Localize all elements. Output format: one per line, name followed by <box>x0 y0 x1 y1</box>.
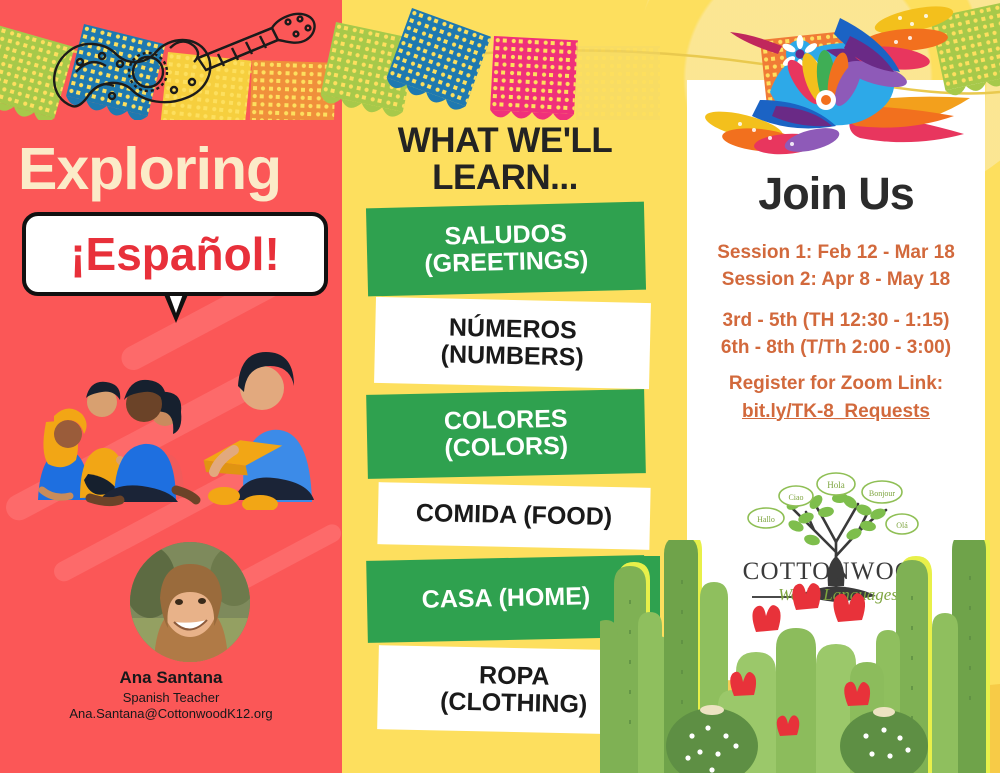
session-2: Session 2: Apr 8 - May 18 <box>687 267 985 294</box>
what-well-learn-heading: WHAT WE'LL LEARN... <box>360 122 650 196</box>
teacher-email: Ana.Santana@CottonwoodK12.org <box>0 706 342 721</box>
logo-bubble-text: Bonjour <box>869 489 896 498</box>
heading-line-2: LEARN... <box>360 159 650 196</box>
join-us-title: Join Us <box>687 168 985 220</box>
session-1: Session 1: Feb 12 - Mar 18 <box>687 240 985 267</box>
topic-line-2: (GREETINGS) <box>424 247 589 278</box>
heading-line-1: WHAT WE'LL <box>360 122 650 159</box>
topic-banner-numeros: NÚMEROS (NUMBERS) <box>374 297 651 389</box>
alebrije-hummingbird-icon <box>700 0 990 156</box>
register-block: Register for Zoom Link: bit.ly/TK-8_Requ… <box>687 370 985 425</box>
topic-line-1: COMIDA (FOOD) <box>416 500 613 532</box>
avatar <box>130 542 250 662</box>
cactus-illustration <box>600 540 1000 773</box>
espanol-label: ¡Español! <box>70 231 280 277</box>
logo-bubble-text: Ciao <box>788 493 803 502</box>
logo-bubble-text: Olá <box>896 521 908 530</box>
logo-bubble-text: Hola <box>827 480 845 490</box>
page-title: Exploring <box>18 140 338 199</box>
topic-line-1: COLORES <box>444 405 568 435</box>
topic-line-1: CASA (HOME) <box>421 583 590 614</box>
grades-6-8: 6th - 8th (T/Th 2:00 - 3:00) <box>687 335 985 362</box>
topic-line-2: (NUMBERS) <box>440 341 584 372</box>
teacher-name: Ana Santana <box>0 668 342 688</box>
logo-bubble-text: Hallo <box>757 515 775 524</box>
register-link[interactable]: bit.ly/TK-8_Requests <box>687 398 985 426</box>
flyer-canvas: Exploring ¡Español! <box>0 0 1000 773</box>
grades-3-5: 3rd - 5th (TH 12:30 - 1:15) <box>687 308 985 335</box>
session-dates: Session 1: Feb 12 - Mar 18 Session 2: Ap… <box>687 240 985 294</box>
children-reading-illustration <box>28 330 338 510</box>
espanol-speech-bubble: ¡Español! <box>22 212 328 296</box>
grade-times: 3rd - 5th (TH 12:30 - 1:15) 6th - 8th (T… <box>687 308 985 362</box>
topic-banner-colores: COLORES (COLORS) <box>366 389 646 479</box>
guitar-icon <box>20 2 340 122</box>
teacher-role: Spanish Teacher <box>0 690 342 705</box>
register-label: Register for Zoom Link: <box>687 370 985 398</box>
topic-banner-saludos: SALUDOS (GREETINGS) <box>366 202 646 297</box>
topic-line-2: (COLORS) <box>444 433 568 463</box>
topic-line-2: (CLOTHING) <box>440 688 588 719</box>
